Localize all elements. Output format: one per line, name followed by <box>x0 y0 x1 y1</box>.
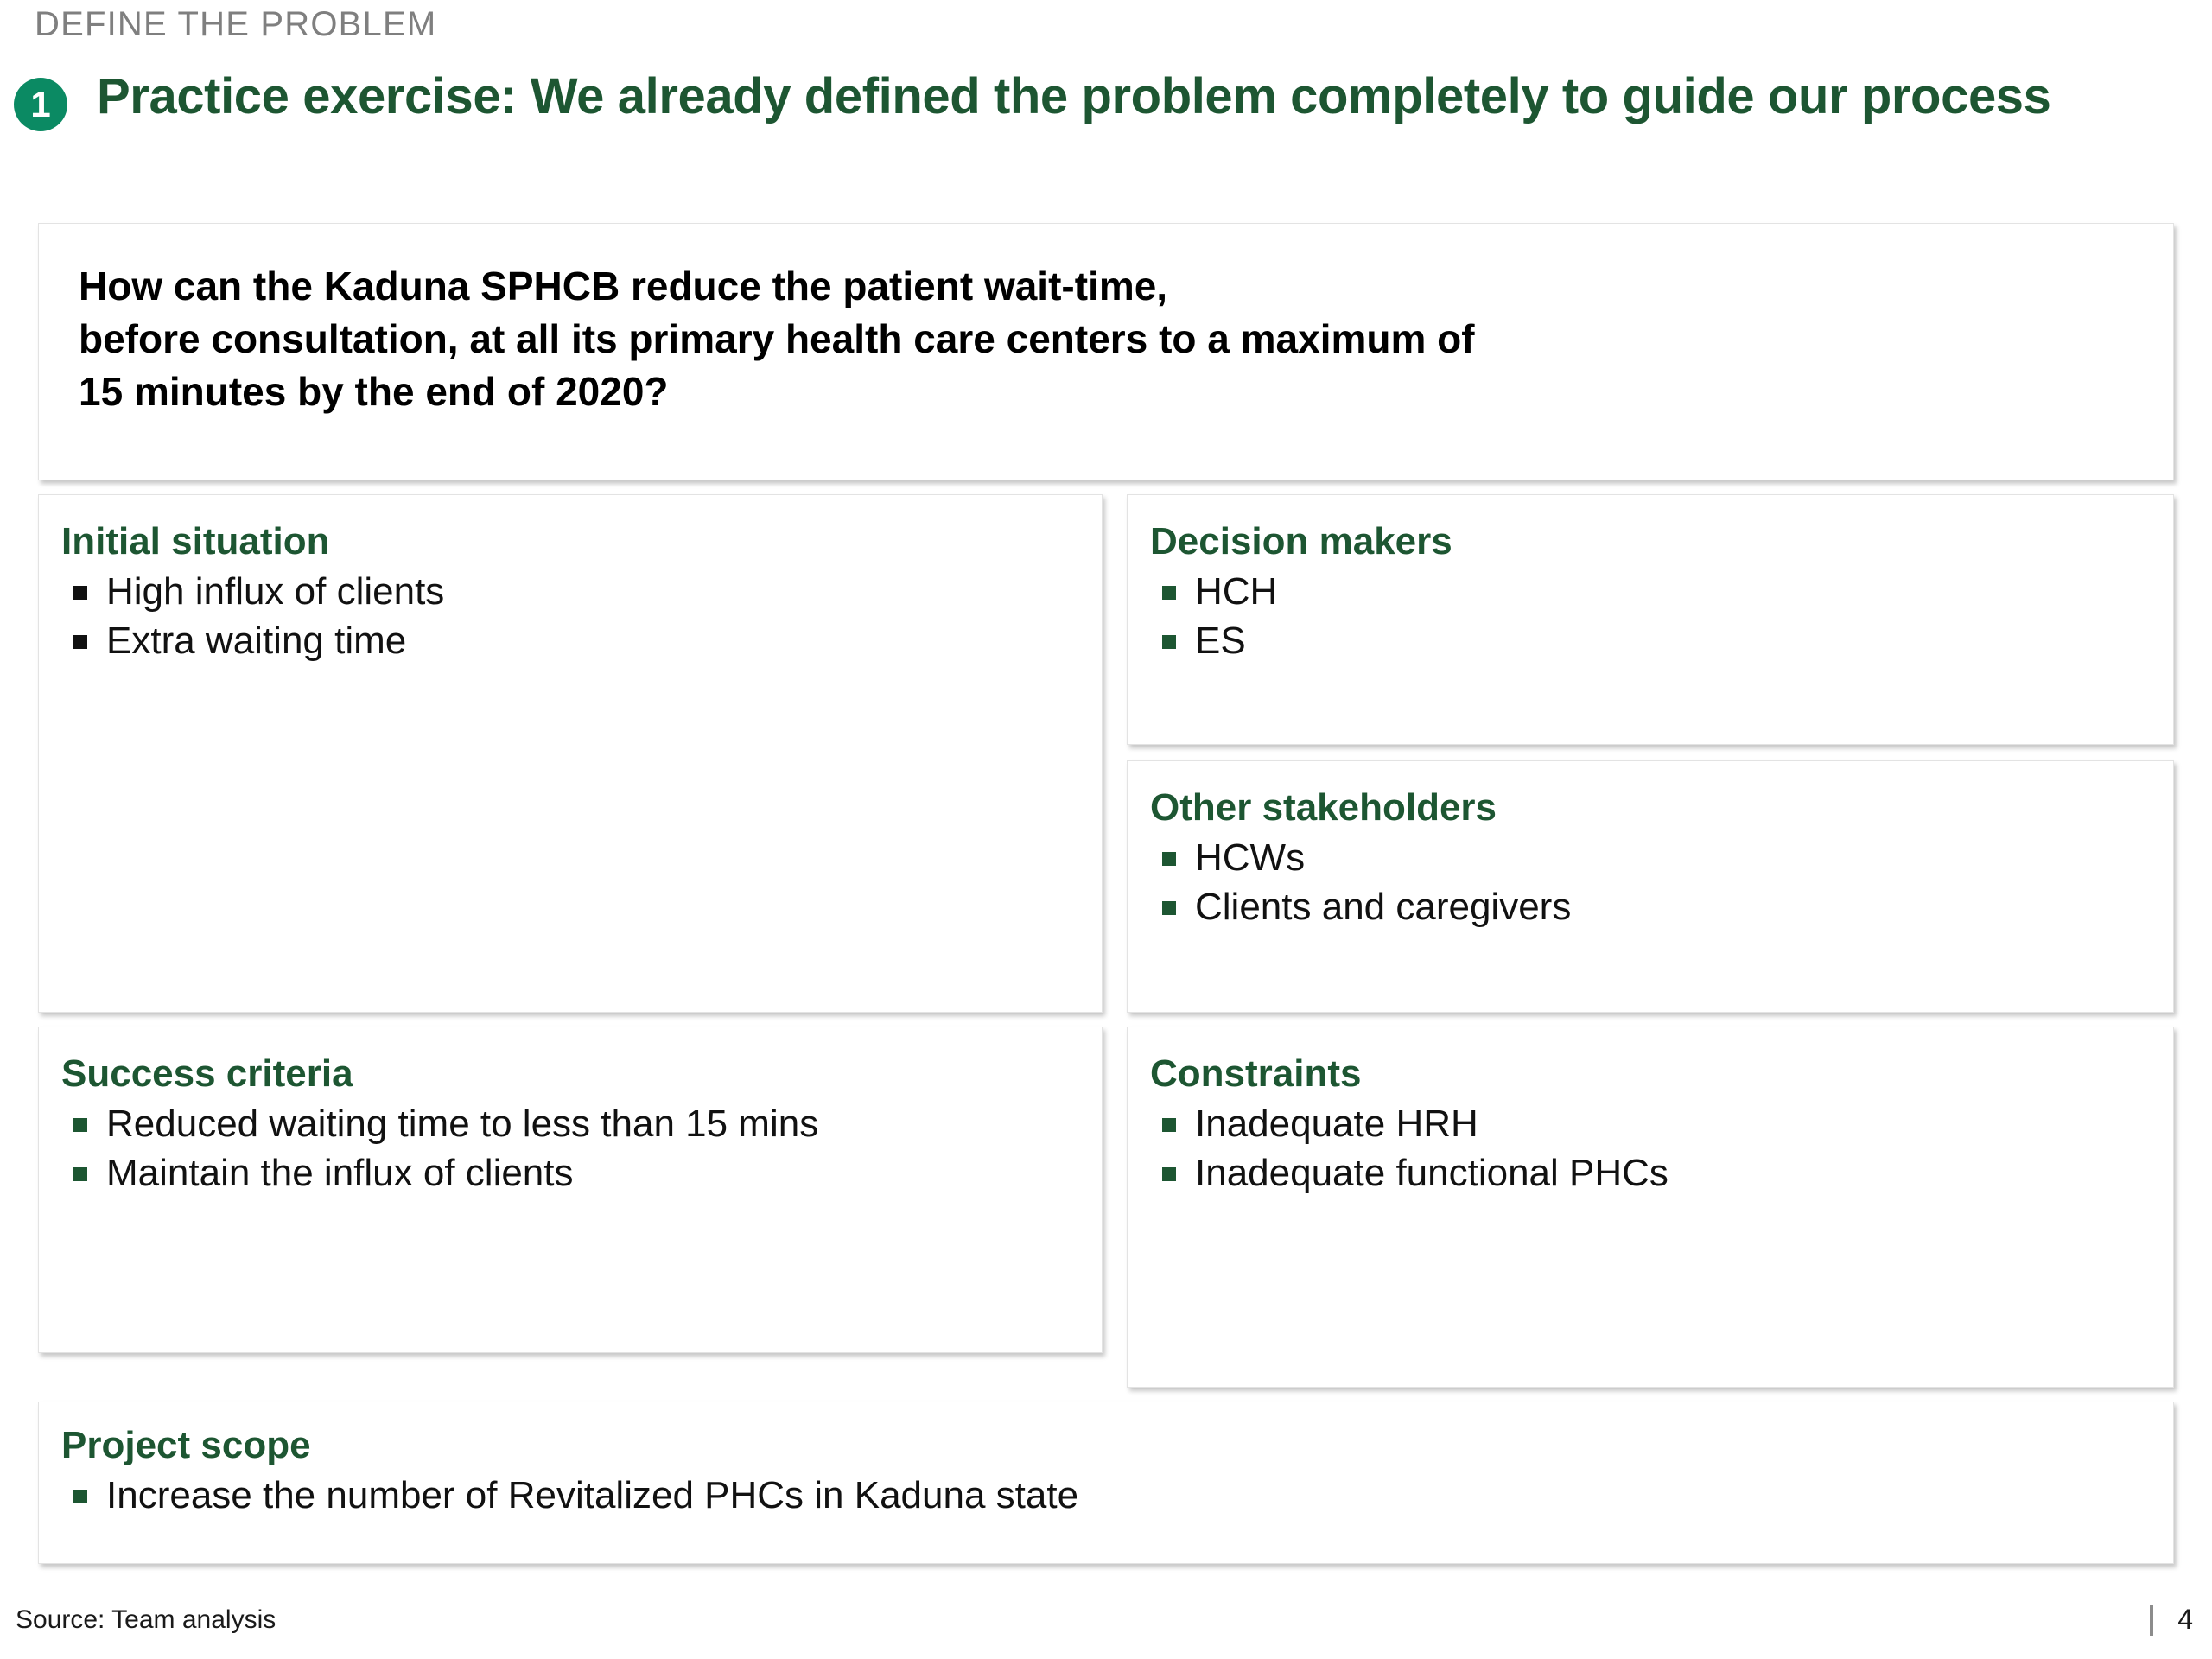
project-scope-title: Project scope <box>61 1425 2173 1466</box>
list-item: Clients and caregivers <box>1150 883 2173 931</box>
slide: DEFINE THE PROBLEM 1 Practice exercise: … <box>0 0 2212 1659</box>
success-criteria-title: Success criteria <box>61 1053 1102 1095</box>
constraints-panel: Constraints Inadequate HRH Inadequate fu… <box>1127 1027 2174 1388</box>
list-item: HCH <box>1150 568 2173 616</box>
list-item: Reduced waiting time to less than 15 min… <box>61 1100 1102 1148</box>
list-item: High influx of clients <box>61 568 1102 616</box>
list-item: HCWs <box>1150 834 2173 882</box>
project-scope-panel: Project scope Increase the number of Rev… <box>38 1402 2174 1564</box>
problem-statement-panel: How can the Kaduna SPHCB reduce the pati… <box>38 223 2174 480</box>
square-bullet-icon <box>1162 586 1176 600</box>
success-criteria-list: Reduced waiting time to less than 15 min… <box>61 1100 1102 1198</box>
constraints-list: Inadequate HRH Inadequate functional PHC… <box>1150 1100 2173 1198</box>
project-scope-list: Increase the number of Revitalized PHCs … <box>61 1471 2173 1520</box>
list-item: ES <box>1150 617 2173 665</box>
square-bullet-icon <box>1162 1167 1176 1181</box>
other-stakeholders-title: Other stakeholders <box>1150 787 2173 829</box>
list-item: Inadequate HRH <box>1150 1100 2173 1148</box>
square-bullet-icon <box>73 1490 87 1503</box>
list-item-label: Clients and caregivers <box>1195 886 1571 928</box>
list-item-label: Inadequate functional PHCs <box>1195 1152 1669 1194</box>
decision-makers-panel: Decision makers HCH ES <box>1127 494 2174 745</box>
square-bullet-icon <box>73 1167 87 1181</box>
step-number-badge: 1 <box>14 78 67 131</box>
decision-makers-title: Decision makers <box>1150 521 2173 563</box>
list-item: Increase the number of Revitalized PHCs … <box>61 1471 2173 1520</box>
initial-situation-list: High influx of clients Extra waiting tim… <box>61 568 1102 665</box>
other-stakeholders-list: HCWs Clients and caregivers <box>1150 834 2173 931</box>
decision-makers-list: HCH ES <box>1150 568 2173 665</box>
square-bullet-icon <box>1162 635 1176 649</box>
list-item: Inadequate functional PHCs <box>1150 1149 2173 1198</box>
page-title: Practice exercise: We already defined th… <box>97 69 2202 125</box>
list-item-label: High influx of clients <box>106 570 444 613</box>
square-bullet-icon <box>73 635 87 649</box>
square-bullet-icon <box>73 1118 87 1132</box>
initial-situation-panel: Initial situation High influx of clients… <box>38 494 1103 1013</box>
problem-statement-line-1: How can the Kaduna SPHCB reduce the pati… <box>79 260 2130 313</box>
success-criteria-panel: Success criteria Reduced waiting time to… <box>38 1027 1103 1353</box>
problem-statement-line-3: 15 minutes by the end of 2020? <box>79 365 2130 418</box>
square-bullet-icon <box>1162 901 1176 915</box>
list-item: Extra waiting time <box>61 617 1102 665</box>
square-bullet-icon <box>73 586 87 600</box>
list-item-label: Increase the number of Revitalized PHCs … <box>106 1474 1078 1516</box>
slide-kicker: DEFINE THE PROBLEM <box>35 5 436 44</box>
slide-title-row: 1 Practice exercise: We already defined … <box>7 69 2202 131</box>
footer-right-group: 4 <box>2150 1604 2193 1636</box>
list-item-label: HCWs <box>1195 836 1305 879</box>
problem-statement-line-2: before consultation, at all its primary … <box>79 313 2130 365</box>
list-item-label: Extra waiting time <box>106 620 406 662</box>
square-bullet-icon <box>1162 1118 1176 1132</box>
list-item-label: Inadequate HRH <box>1195 1103 1478 1145</box>
page-number: 4 <box>2177 1604 2193 1636</box>
footer-divider-icon <box>2150 1605 2153 1636</box>
initial-situation-title: Initial situation <box>61 521 1102 563</box>
list-item-label: HCH <box>1195 570 1277 613</box>
slide-footer: Source: Team analysis 4 <box>0 1595 2212 1659</box>
list-item-label: ES <box>1195 620 1246 662</box>
square-bullet-icon <box>1162 852 1176 866</box>
list-item-label: Maintain the influx of clients <box>106 1152 574 1194</box>
constraints-title: Constraints <box>1150 1053 2173 1095</box>
list-item-label: Reduced waiting time to less than 15 min… <box>106 1103 818 1145</box>
source-note: Source: Team analysis <box>16 1605 276 1635</box>
list-item: Maintain the influx of clients <box>61 1149 1102 1198</box>
other-stakeholders-panel: Other stakeholders HCWs Clients and care… <box>1127 760 2174 1013</box>
